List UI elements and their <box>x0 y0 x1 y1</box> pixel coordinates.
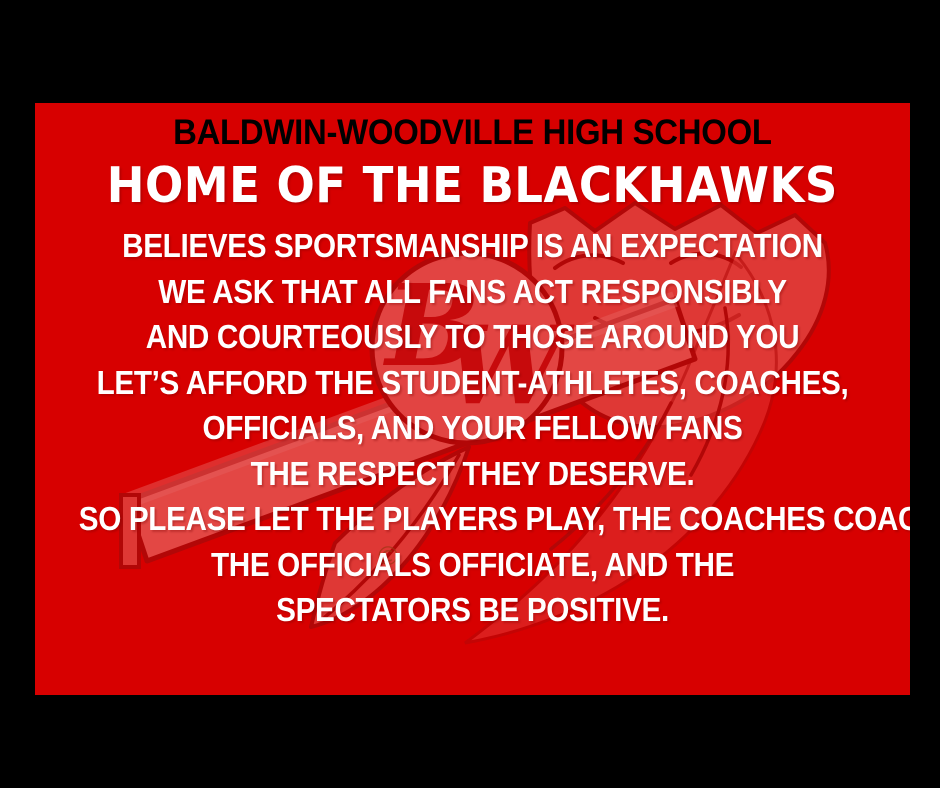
message-line: OFFICIALS, AND YOUR FELLOW FANS <box>79 405 867 451</box>
message-line: LET’S AFFORD THE STUDENT-ATHLETES, COACH… <box>79 360 867 406</box>
red-sign-panel: B W © BALDWIN-WOODVILLE HIGH SCHOOL HOME… <box>35 103 910 695</box>
sportsmanship-message: BELIEVES SPORTSMANSHIP IS AN EXPECTATION… <box>35 223 910 633</box>
tagline-heading: HOME OF THE BLACKHAWKS <box>107 157 838 215</box>
sign-text-block: BALDWIN-WOODVILLE HIGH SCHOOL HOME OF TH… <box>35 103 910 695</box>
message-line: SPECTATORS BE POSITIVE. <box>79 587 867 633</box>
message-line: SO PLEASE LET THE PLAYERS PLAY, THE COAC… <box>79 496 867 542</box>
message-line: AND COURTEOUSLY TO THOSE AROUND YOU <box>79 314 867 360</box>
sign-canvas: B W © BALDWIN-WOODVILLE HIGH SCHOOL HOME… <box>0 0 940 788</box>
school-name-heading: BALDWIN-WOODVILLE HIGH SCHOOL <box>173 111 772 155</box>
message-line: THE RESPECT THEY DESERVE. <box>79 451 867 497</box>
message-line: WE ASK THAT ALL FANS ACT RESPONSIBLY <box>79 269 867 315</box>
message-line: THE OFFICIALS OFFICIATE, AND THE <box>79 542 867 588</box>
message-line: BELIEVES SPORTSMANSHIP IS AN EXPECTATION <box>79 223 867 269</box>
